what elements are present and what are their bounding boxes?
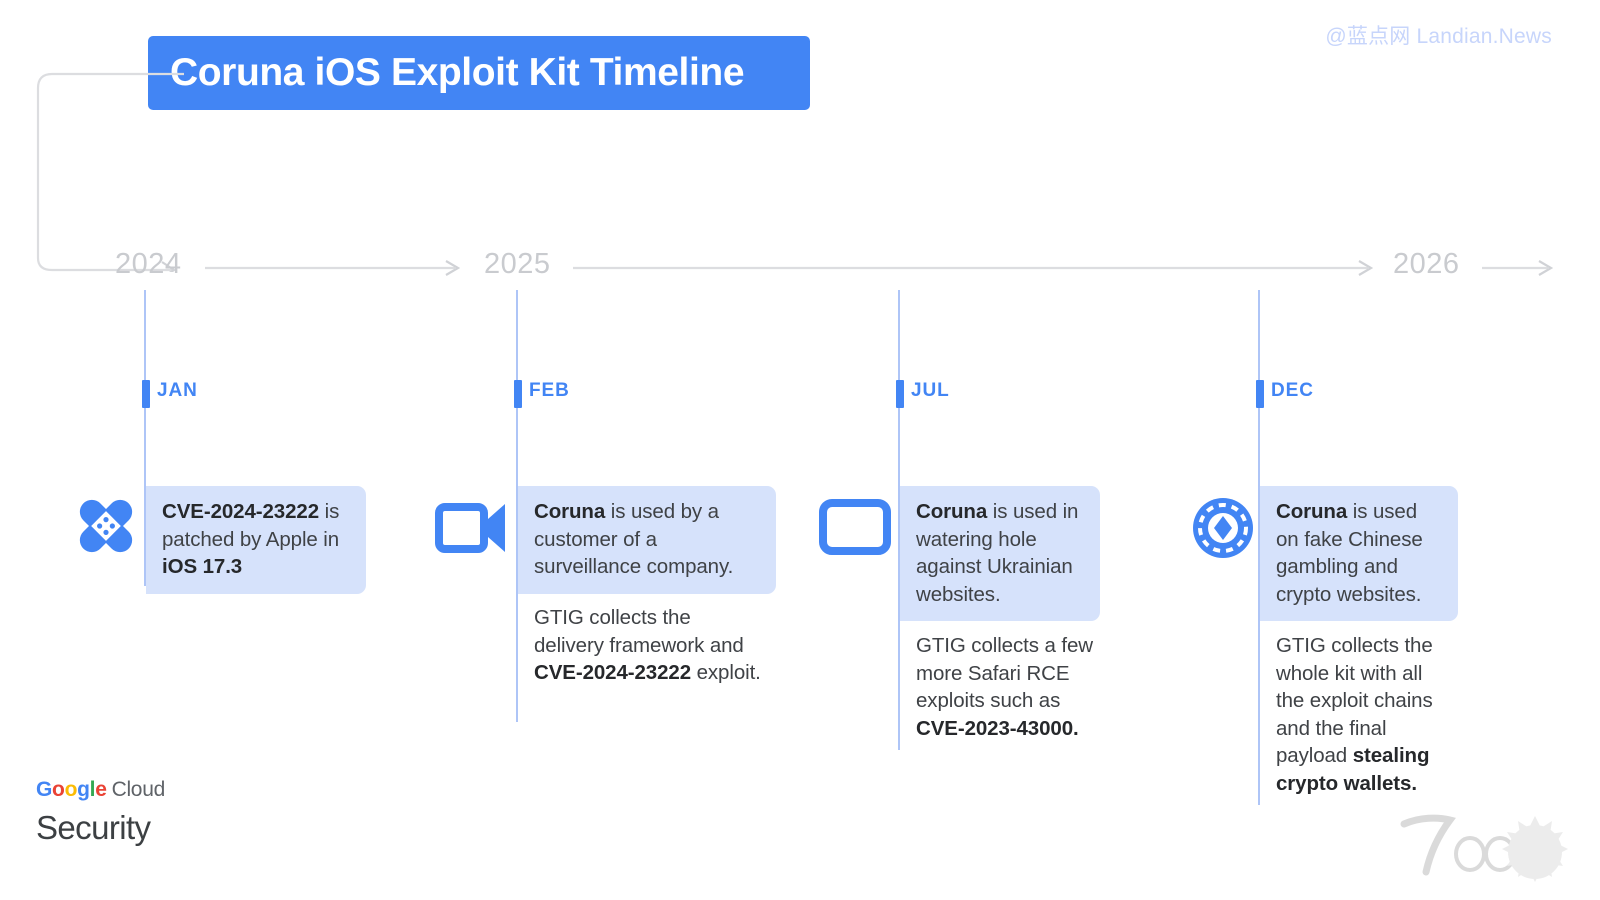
month-marker (142, 380, 150, 408)
event-note-feb: GTIG collects the delivery framework and… (518, 604, 776, 687)
page-title-banner: Coruna iOS Exploit Kit Timeline (148, 36, 810, 110)
axis-year-2026: 2026 (1393, 248, 1460, 281)
event-note-text: GTIG collects the whole kit with all the… (1276, 632, 1456, 797)
event-card-text: Coruna is used by a customer of a survei… (534, 498, 762, 581)
timeline-axis (0, 245, 1600, 291)
publisher-watermark: @蓝点网 Landian.News (1325, 20, 1552, 50)
logo-letter-g2: g (77, 778, 90, 801)
google-cloud-security-logo: GoogleCloud Security (36, 778, 165, 847)
page-title: Coruna iOS Exploit Kit Timeline (170, 51, 744, 95)
google-cloud-wordmark: GoogleCloud (36, 778, 165, 802)
event-card-jan: CVE-2024-23222 is patched by Apple in iO… (146, 486, 366, 594)
event-card-jul: Coruna is used in watering hole against … (900, 486, 1100, 621)
month-label-jul: JUL (911, 380, 950, 402)
title-to-axis-connector (34, 72, 194, 272)
month-label-dec: DEC (1271, 380, 1314, 402)
month-marker (896, 380, 904, 408)
crypto-coin-icon (1191, 496, 1255, 560)
video-camera-icon (435, 498, 507, 558)
month-label-jan: JAN (157, 380, 198, 402)
month-marker (1256, 380, 1264, 408)
event-note-text: GTIG collects the delivery framework and… (534, 604, 762, 687)
event-card-text: CVE-2024-23222 is patched by Apple in iO… (162, 498, 352, 581)
browser-window-icon (819, 498, 891, 556)
logo-cloud-word: Cloud (107, 778, 165, 801)
logo-letter-o1: o (52, 778, 65, 801)
event-card-dec: Coruna is used on fake Chinese gambling … (1260, 486, 1458, 621)
event-card-text: Coruna is used on fake Chinese gambling … (1276, 498, 1444, 608)
bandage-patch-icon (70, 490, 142, 562)
source-site-watermark (1392, 800, 1572, 886)
event-note-jul: GTIG collects a few more Safari RCE expl… (900, 632, 1122, 742)
month-label-feb: FEB (529, 380, 570, 402)
logo-letter-o2: o (65, 778, 78, 801)
logo-product-name: Security (36, 809, 165, 847)
event-card-text: Coruna is used in watering hole against … (916, 498, 1086, 608)
event-note-dec: GTIG collects the whole kit with all the… (1260, 632, 1470, 797)
logo-letter-e: e (95, 778, 106, 801)
month-marker (514, 380, 522, 408)
logo-letter-g: G (36, 778, 52, 801)
axis-year-2024: 2024 (115, 248, 182, 281)
axis-year-2025: 2025 (484, 248, 551, 281)
event-note-text: GTIG collects a few more Safari RCE expl… (916, 632, 1108, 742)
event-card-feb: Coruna is used by a customer of a survei… (518, 486, 776, 594)
